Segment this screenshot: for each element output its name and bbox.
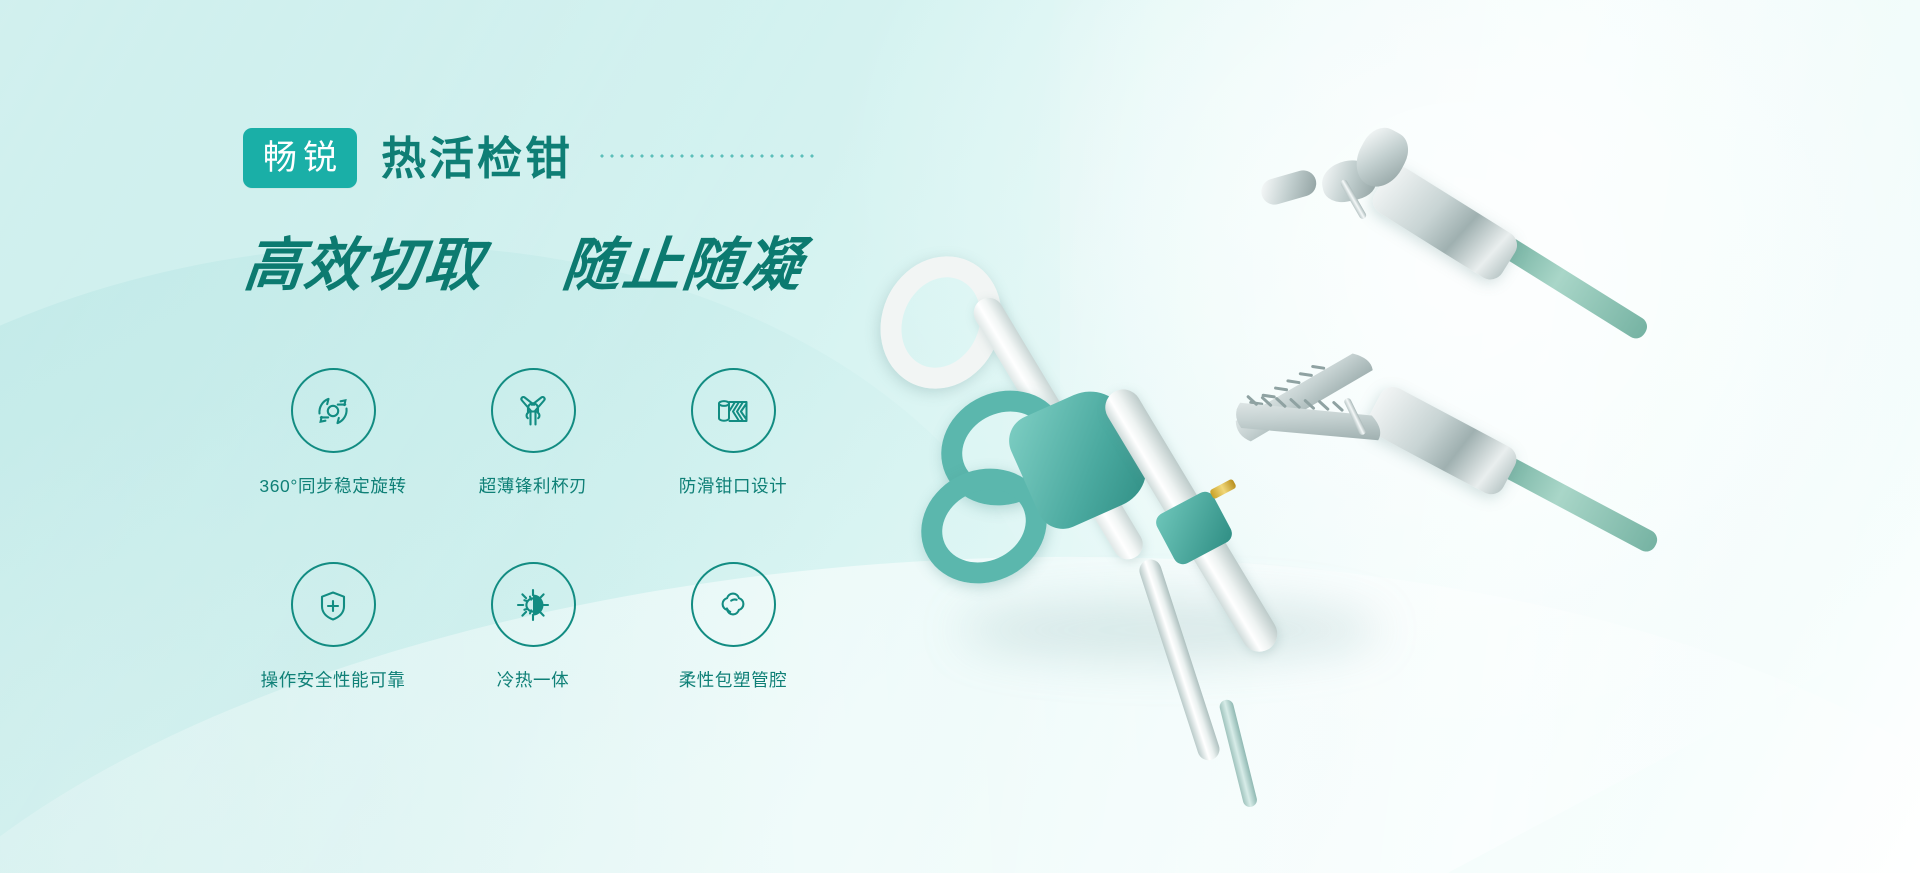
anti-slip-jaw-icon xyxy=(691,368,776,453)
finger-ring-teal-lower xyxy=(903,449,1065,603)
tagline: 高效切取 随止随凝 xyxy=(241,218,808,302)
biopsy-jaw-upper xyxy=(1188,88,1643,392)
flexible-lumen-icon xyxy=(691,562,776,647)
feature-item-cup-blade: 超薄锋利杯刃 xyxy=(433,368,633,498)
feature-label: 超薄锋利杯刃 xyxy=(479,473,588,498)
jaw-upper-tip xyxy=(1258,167,1319,207)
jaw-upper-cup-right xyxy=(1347,121,1416,196)
electrode-connector xyxy=(1153,488,1236,567)
jaw-lower-needle xyxy=(1343,397,1367,436)
feature-row-2: 操作安全性能可靠 xyxy=(233,562,833,692)
feature-item-safety: 操作安全性能可靠 xyxy=(233,562,433,692)
sharp-cup-blade-icon xyxy=(491,368,576,453)
hot-cold-icon xyxy=(491,562,576,647)
title-row: 畅锐 热活检钳 xyxy=(243,128,817,188)
feature-label: 冷热一体 xyxy=(497,667,569,692)
shield-plus-safety-icon xyxy=(291,562,376,647)
product-title: 热活检钳 xyxy=(381,136,573,181)
product-photo xyxy=(900,0,1920,873)
feature-grid: 360°同步稳定旋转 xyxy=(233,368,833,692)
background-glow xyxy=(1060,0,1920,820)
feature-item-flexible-lumen: 柔性包塑管腔 xyxy=(633,562,833,692)
jaw-upper-needle xyxy=(1339,179,1367,221)
sheath-tube xyxy=(1137,557,1223,764)
connector-pin-gold xyxy=(1209,478,1237,499)
tagline-right: 随止随凝 xyxy=(559,231,806,299)
slider-shaft xyxy=(1099,383,1284,659)
finger-ring-teal-upper xyxy=(923,371,1085,525)
sheath-tip xyxy=(1218,698,1258,808)
brand-badge: 畅锐 xyxy=(243,128,357,188)
jaw-upper-cup-left xyxy=(1318,156,1379,206)
product-shadow xyxy=(960,600,1380,660)
feature-item-hot-cold: 冷热一体 xyxy=(433,562,633,692)
feature-label: 防滑钳口设计 xyxy=(679,473,788,498)
jaw-lower-barrel xyxy=(1363,382,1522,499)
feature-label: 柔性包塑管腔 xyxy=(679,667,788,692)
rotation-360-icon xyxy=(291,368,376,453)
feature-label: 操作安全性能可靠 xyxy=(261,667,406,692)
handle-shaft-white xyxy=(968,292,1148,565)
feature-row-1: 360°同步稳定旋转 xyxy=(233,368,833,498)
biopsy-jaw-lower xyxy=(1181,285,1629,594)
tagline-left: 高效切取 xyxy=(241,231,488,299)
feature-item-anti-slip: 防滑钳口设计 xyxy=(633,368,833,498)
feature-item-rotation: 360°同步稳定旋转 xyxy=(233,368,433,498)
jaw-lower-serrated-cups xyxy=(1210,315,1440,480)
banner-content: 畅锐 热活检钳 高效切取 随止随凝 xyxy=(0,0,900,873)
jaw-lower-green-tube xyxy=(1491,451,1660,555)
jaw-upper-barrel xyxy=(1368,161,1523,285)
feature-label: 360°同步稳定旋转 xyxy=(259,473,406,498)
handle-body-teal xyxy=(1001,379,1159,537)
product-banner: 畅锐 热活检钳 高效切取 随止随凝 xyxy=(0,0,1920,873)
jaw-upper-green-tube xyxy=(1495,233,1651,342)
dotted-rule-decoration xyxy=(597,154,817,158)
